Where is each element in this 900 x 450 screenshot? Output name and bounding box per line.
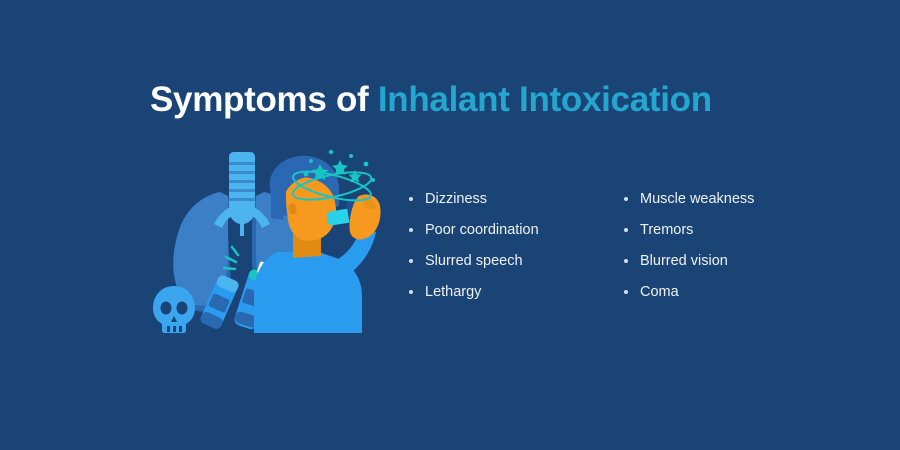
bullet-icon	[409, 290, 413, 294]
symptom-column-right: Muscle weakness Tremors Blurred vision C…	[620, 190, 830, 314]
list-item-label: Poor coordination	[425, 222, 539, 238]
symptom-column-left: Dizziness Poor coordination Slurred spee…	[405, 190, 620, 314]
skull-icon	[153, 286, 195, 333]
list-item-label: Blurred vision	[640, 253, 728, 269]
bullet-icon	[624, 197, 628, 201]
list-item-label: Lethargy	[425, 284, 481, 300]
symptoms-list: Dizziness Poor coordination Slurred spee…	[405, 190, 865, 314]
list-item: Coma	[620, 283, 830, 314]
list-item-label: Coma	[640, 284, 679, 300]
page-title-lead: Symptoms of	[150, 80, 378, 119]
list-item: Muscle weakness	[620, 190, 830, 221]
list-item-label: Slurred speech	[425, 253, 523, 269]
bullet-icon	[624, 290, 628, 294]
list-item: Slurred speech	[405, 252, 620, 283]
bullet-icon	[624, 259, 628, 263]
list-item: Poor coordination	[405, 221, 620, 252]
bullet-icon	[409, 197, 413, 201]
page-title: Symptoms of Inhalant Intoxication	[150, 78, 712, 122]
bullet-icon	[409, 228, 413, 232]
illustration-svg	[140, 148, 390, 333]
page-title-highlight: Inhalant Intoxication	[378, 80, 712, 119]
inhalant-intoxication-illustration	[140, 148, 390, 333]
list-item: Lethargy	[405, 283, 620, 314]
list-item: Tremors	[620, 221, 830, 252]
list-item-label: Dizziness	[425, 191, 487, 207]
bullet-icon	[624, 228, 628, 232]
list-item-label: Muscle weakness	[640, 191, 754, 207]
bullet-icon	[409, 259, 413, 263]
list-item: Blurred vision	[620, 252, 830, 283]
list-item-label: Tremors	[640, 222, 693, 238]
slide-canvas: Symptoms of Inhalant Intoxication	[0, 0, 900, 450]
list-item: Dizziness	[405, 190, 620, 221]
